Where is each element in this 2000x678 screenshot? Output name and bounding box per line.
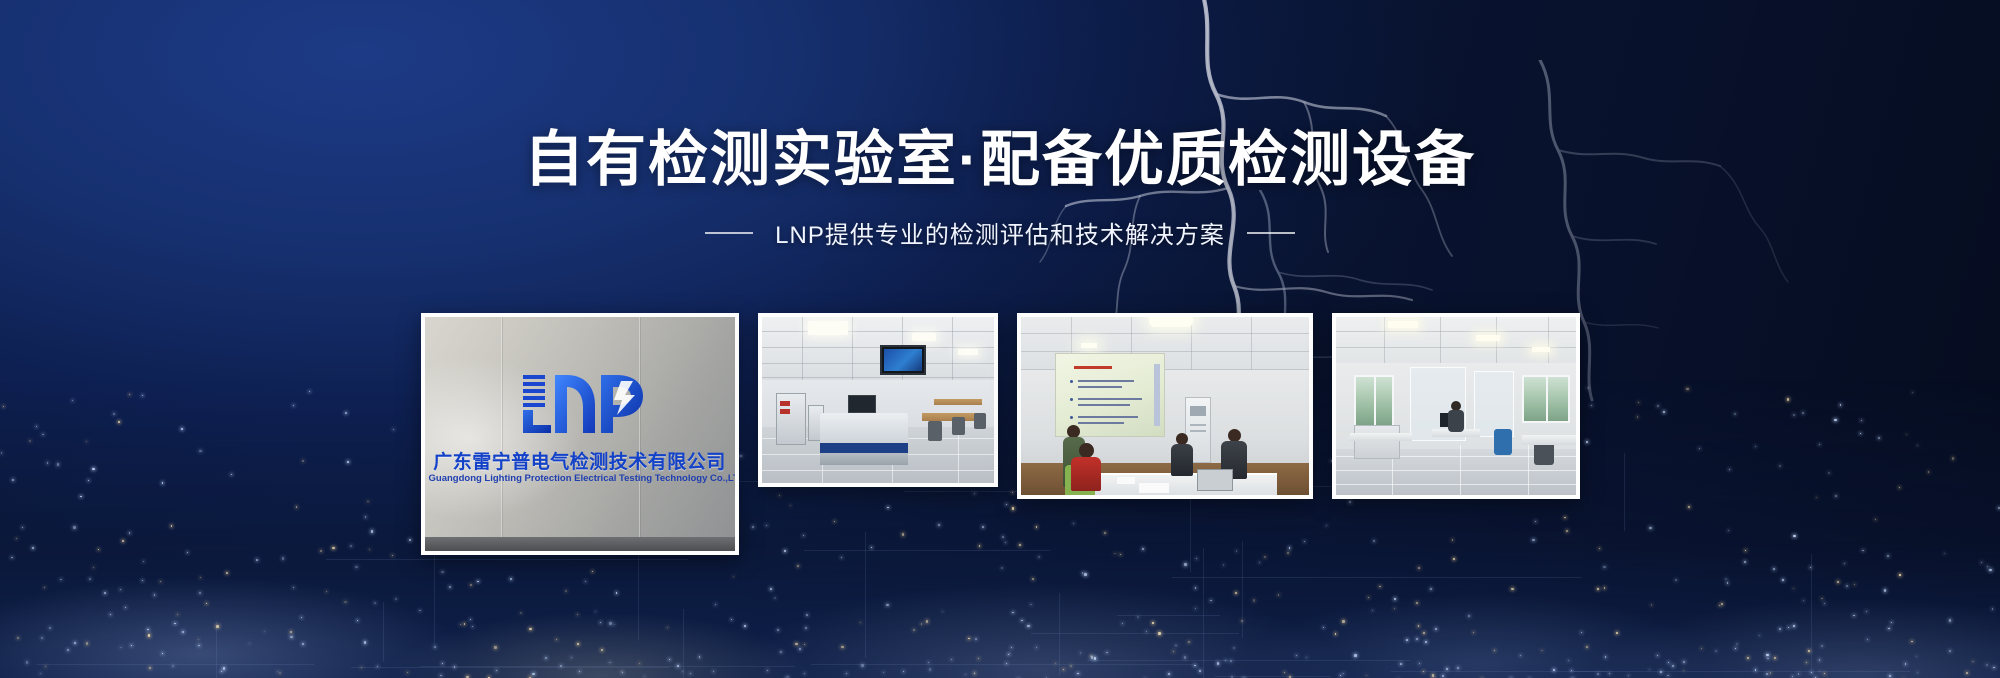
gallery-photo-office-area[interactable]: [1332, 313, 1580, 499]
window-icon: [1354, 375, 1394, 427]
photo-gallery-strip: 广东雷宁普电气检测技术有限公司 Guangdong Lighting Prote…: [0, 313, 2000, 555]
page-subtitle: LNP提供专业的检测评估和技术解决方案: [775, 215, 1225, 250]
hero-banner: 自有检测实验室·配备优质检测设备 LNP提供专业的检测评估和技术解决方案: [0, 0, 2000, 678]
person-at-desk: [1448, 401, 1464, 431]
lnp-logo-icon: [521, 369, 651, 437]
chair-icon: [1494, 429, 1512, 455]
gallery-photo-training-meeting-room[interactable]: [1017, 313, 1313, 499]
hero-text-block: 自有检测实验室·配备优质检测设备 LNP提供专业的检测评估和技术解决方案: [0, 128, 2000, 250]
laptop-icon: [1197, 469, 1233, 491]
sign-company-name-en: Guangdong Lighting Protection Electrical…: [429, 473, 731, 484]
subtitle-row: LNP提供专业的检测评估和技术解决方案: [0, 215, 2000, 250]
paper-document-icon: [1139, 483, 1169, 493]
divider-line-right-icon: [1247, 232, 1295, 234]
gallery-photo-company-logo-sign[interactable]: 广东雷宁普电气检测技术有限公司 Guangdong Lighting Prote…: [421, 313, 739, 555]
divider-line-left-icon: [705, 232, 753, 234]
monitor-icon: [880, 345, 926, 375]
person-seated-front: [1071, 443, 1101, 489]
person-seated-middle: [1171, 433, 1193, 475]
cubicle-partition: [1354, 425, 1400, 459]
sign-company-name-cn: 广东雷宁普电气检测技术有限公司: [433, 447, 727, 474]
page-title: 自有检测实验室·配备优质检测设备: [0, 128, 2000, 191]
gallery-photo-testing-laboratory[interactable]: [758, 313, 998, 487]
desk-icon: [1350, 433, 1412, 441]
